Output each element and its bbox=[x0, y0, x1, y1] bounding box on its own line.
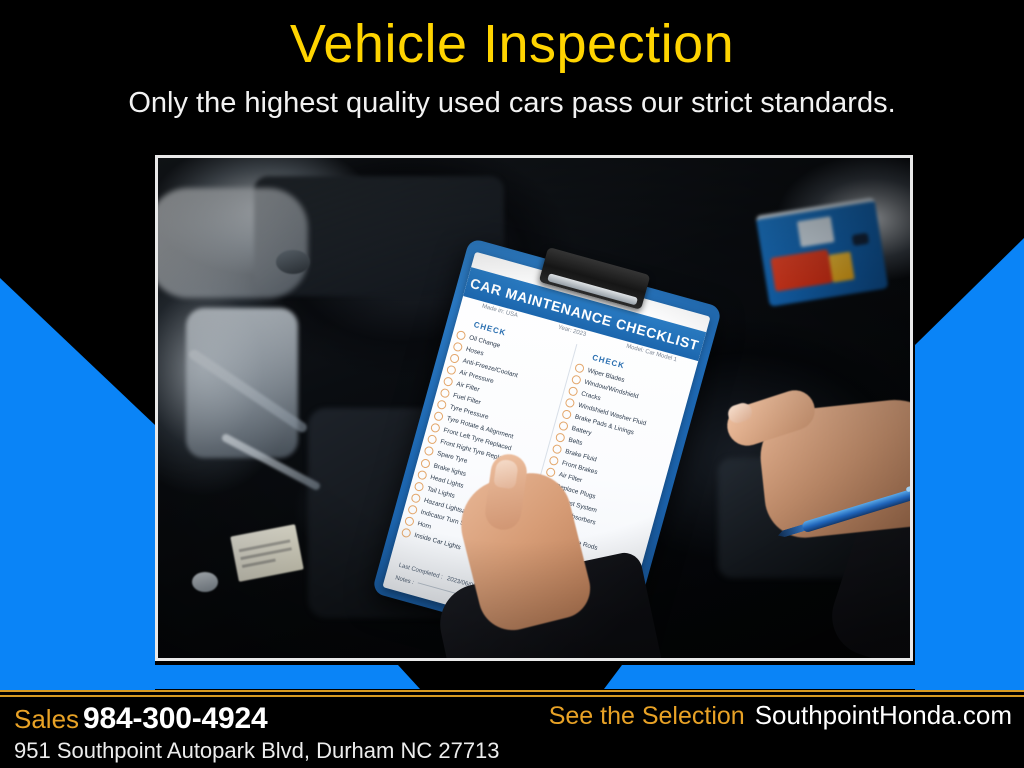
checkbox-circle-icon[interactable] bbox=[414, 481, 425, 492]
oil-cap bbox=[276, 250, 310, 274]
gold-divider-bottom bbox=[0, 695, 1024, 697]
checkbox-circle-icon[interactable] bbox=[439, 388, 450, 399]
page-title: Vehicle Inspection bbox=[0, 14, 1024, 74]
footer-bar: Sales984-300-4924 951 Southpoint Autopar… bbox=[0, 698, 1024, 768]
page-subtitle: Only the highest quality used cars pass … bbox=[0, 86, 1024, 120]
photo-content: CAR MAINTENANCE CHECKLIST Made in: USA Y… bbox=[158, 158, 910, 658]
checkbox-circle-icon[interactable] bbox=[420, 458, 431, 469]
checkbox-circle-icon[interactable] bbox=[417, 469, 428, 480]
battery-label-white bbox=[797, 216, 835, 247]
checkbox-circle-icon[interactable] bbox=[449, 353, 460, 364]
checkbox-circle-icon[interactable] bbox=[574, 362, 585, 373]
checkbox-circle-icon[interactable] bbox=[401, 527, 412, 538]
website-callout: See the SelectionSouthpointHonda.com bbox=[549, 700, 1012, 731]
car-battery bbox=[756, 197, 889, 307]
right-blue-wedge bbox=[915, 238, 1024, 690]
checkbox-circle-icon[interactable] bbox=[430, 423, 441, 434]
notes-label: Notes : bbox=[394, 575, 414, 586]
checkbox-circle-icon[interactable] bbox=[558, 421, 569, 432]
checkbox-circle-icon[interactable] bbox=[433, 411, 444, 422]
sales-phone[interactable]: 984-300-4924 bbox=[83, 702, 267, 735]
checkbox-circle-icon[interactable] bbox=[568, 386, 579, 397]
checkbox-circle-icon[interactable] bbox=[404, 516, 415, 527]
checklist-item-label: Belts bbox=[568, 437, 584, 448]
checklist-item-label: Horn bbox=[417, 520, 432, 530]
checkbox-circle-icon[interactable] bbox=[446, 364, 457, 375]
website-link[interactable]: SouthpointHonda.com bbox=[755, 700, 1012, 730]
checkbox-circle-icon[interactable] bbox=[548, 455, 559, 466]
washer-fluid-cap bbox=[192, 572, 218, 592]
hero-photo: CAR MAINTENANCE CHECKLIST Made in: USA Y… bbox=[155, 155, 913, 661]
checkbox-circle-icon[interactable] bbox=[561, 409, 572, 420]
checkbox-circle-icon[interactable] bbox=[571, 374, 582, 385]
checkbox-circle-icon[interactable] bbox=[456, 329, 467, 340]
checkbox-circle-icon[interactable] bbox=[443, 376, 454, 387]
fender-edge bbox=[158, 188, 308, 298]
checkbox-circle-icon[interactable] bbox=[452, 341, 463, 352]
ad-canvas: Vehicle Inspection Only the highest qual… bbox=[0, 0, 1024, 768]
checkbox-circle-icon[interactable] bbox=[427, 434, 438, 445]
checkbox-circle-icon[interactable] bbox=[410, 493, 421, 504]
checkbox-circle-icon[interactable] bbox=[564, 397, 575, 408]
sales-label: Sales bbox=[14, 704, 79, 734]
battery-label-yellow bbox=[829, 252, 855, 283]
checkbox-circle-icon[interactable] bbox=[407, 504, 418, 515]
left-blue-wedge bbox=[0, 278, 155, 690]
checkbox-circle-icon[interactable] bbox=[555, 432, 566, 443]
see-selection-label: See the Selection bbox=[549, 702, 745, 730]
sales-contact: Sales984-300-4924 bbox=[14, 702, 267, 736]
checkbox-circle-icon[interactable] bbox=[436, 399, 447, 410]
left-thumbnail bbox=[493, 459, 519, 490]
dealer-address: 951 Southpoint Autopark Blvd, Durham NC … bbox=[14, 738, 500, 764]
checkbox-circle-icon[interactable] bbox=[551, 444, 562, 455]
bottom-blue-band bbox=[0, 665, 1024, 689]
gold-divider-top bbox=[0, 690, 1024, 692]
checkbox-circle-icon[interactable] bbox=[423, 446, 434, 457]
